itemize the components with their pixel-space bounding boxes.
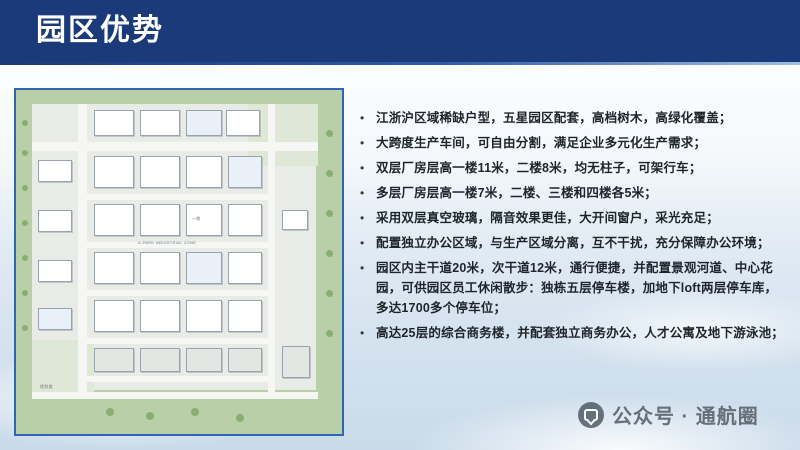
watermark-text: 公众号 · 通航圈 xyxy=(612,400,759,429)
green-belt-left xyxy=(16,90,32,434)
page-title: 园区优势 xyxy=(36,13,164,49)
tree xyxy=(22,220,28,226)
road-secondary-h5 xyxy=(78,376,274,382)
road-main-horizontal-top xyxy=(32,142,318,151)
tree xyxy=(326,130,333,137)
watermark: 公众号 · 通航圈 xyxy=(578,400,759,429)
bullet-marker: • xyxy=(358,233,376,253)
building-block xyxy=(38,210,72,232)
building-block xyxy=(228,204,262,236)
list-item-text: 采用双层真空玻璃，隔音效果更佳，大开间窗户，采光充足； xyxy=(376,208,788,228)
green-belt-top xyxy=(16,90,342,104)
list-item-text: 双层厂房层高一楼11米，二楼8米，均无柱子，可架行车； xyxy=(376,158,788,178)
list-item-text: 江浙沪区域稀缺户型，五星园区配套，高档树木，高绿化覆盖； xyxy=(376,108,788,128)
road-secondary-h1 xyxy=(78,194,274,200)
slide: 园区优势 xyxy=(0,0,800,450)
building-block xyxy=(228,252,262,284)
tree xyxy=(22,325,28,331)
list-item-text: 高达25层的综合商务楼，并配套独立商务办公，人才公寓及地下游泳池； xyxy=(376,323,788,343)
advantages-list: • 江浙沪区域稀缺户型，五星园区配套，高档树木，高绿化覆盖； • 大跨度生产车间… xyxy=(358,108,788,348)
building-block xyxy=(282,346,310,378)
tree xyxy=(22,290,28,296)
building-block xyxy=(140,300,180,332)
tree xyxy=(22,185,28,191)
building-block xyxy=(94,300,134,332)
tree xyxy=(22,255,28,261)
building-block xyxy=(38,160,72,182)
tree xyxy=(236,414,244,422)
tree xyxy=(326,290,333,297)
list-item-text: 大跨度生产车间，可自由分割，满足企业多元化生产需求； xyxy=(376,133,788,153)
tree xyxy=(326,250,333,257)
bullet-marker: • xyxy=(358,323,376,343)
road-secondary-h4 xyxy=(78,338,274,344)
list-item-text: 多层厂房层高一楼7米，二楼、三楼和四楼各5米； xyxy=(376,183,788,203)
road-main-vertical-left xyxy=(78,104,87,392)
site-plan-image: 一期 A-PARK INDUSTRIAL ZONE 规划路 xyxy=(14,88,344,436)
building-block xyxy=(140,348,180,372)
building-block xyxy=(228,348,262,372)
building-block xyxy=(186,348,222,372)
tree xyxy=(146,412,154,420)
list-item: • 双层厂房层高一楼11米，二楼8米，均无柱子，可架行车； xyxy=(358,158,788,178)
building-block xyxy=(186,300,222,332)
building-block xyxy=(226,110,260,136)
tree xyxy=(191,408,199,416)
header-accent-line xyxy=(0,62,800,65)
site-plan-canvas: 一期 A-PARK INDUSTRIAL ZONE 规划路 xyxy=(16,90,342,434)
building-block xyxy=(140,110,180,136)
building-block xyxy=(186,252,222,284)
list-item: • 配置独立办公区域，与生产区域分离，互不干扰，充分保障办公环境； xyxy=(358,233,788,253)
bullet-marker: • xyxy=(358,208,376,228)
building-block xyxy=(94,156,134,188)
tree xyxy=(22,150,28,156)
list-item: • 江浙沪区域稀缺户型，五星园区配套，高档树木，高绿化覆盖； xyxy=(358,108,788,128)
building-block xyxy=(38,308,72,330)
list-item: • 园区内主干道20米，次干道12米，通行便捷，并配置景观河道、中心花园，可供园… xyxy=(358,258,788,318)
bullet-marker: • xyxy=(358,258,376,278)
map-label: 规划路 xyxy=(40,384,53,390)
tree xyxy=(106,408,114,416)
list-item-text: 园区内主干道20米，次干道12米，通行便捷，并配置景观河道、中心花园，可供园区员… xyxy=(376,258,788,318)
bullet-marker: • xyxy=(358,183,376,203)
list-item-text: 配置独立办公区域，与生产区域分离，互不干扰，充分保障办公环境； xyxy=(376,233,788,253)
building-block xyxy=(186,110,222,136)
tree xyxy=(22,120,28,126)
green-belt-right xyxy=(316,90,342,434)
building-block xyxy=(186,156,222,188)
building-block xyxy=(140,204,180,236)
building-block xyxy=(94,110,134,136)
list-item: • 大跨度生产车间，可自由分割，满足企业多元化生产需求； xyxy=(358,133,788,153)
building-block xyxy=(282,210,308,230)
map-label: A-PARK INDUSTRIAL ZONE xyxy=(138,240,196,245)
building-block xyxy=(228,156,262,188)
bullet-marker: • xyxy=(358,158,376,178)
building-block xyxy=(38,260,72,282)
tree xyxy=(326,210,333,217)
building-block xyxy=(140,252,180,284)
building-block xyxy=(228,300,262,332)
building-block xyxy=(94,348,134,372)
list-item: • 高达25层的综合商务楼，并配套独立商务办公，人才公寓及地下游泳池； xyxy=(358,323,788,343)
building-block xyxy=(94,252,134,284)
map-label: 一期 xyxy=(192,216,201,222)
road-main-vertical-right xyxy=(268,104,275,392)
road-perimeter-bottom xyxy=(32,392,318,399)
road-secondary-h3 xyxy=(78,290,274,296)
building-block xyxy=(140,156,180,188)
list-item: • 多层厂房层高一楼7米，二楼、三楼和四楼各5米； xyxy=(358,183,788,203)
building-block xyxy=(94,204,134,236)
bullet-marker: • xyxy=(358,108,376,128)
tree xyxy=(326,330,333,337)
tree xyxy=(326,170,333,177)
list-item: • 采用双层真空玻璃，隔音效果更佳，大开间窗户，采光充足； xyxy=(358,208,788,228)
wechat-official-account-icon xyxy=(578,402,604,428)
bullet-marker: • xyxy=(358,133,376,153)
